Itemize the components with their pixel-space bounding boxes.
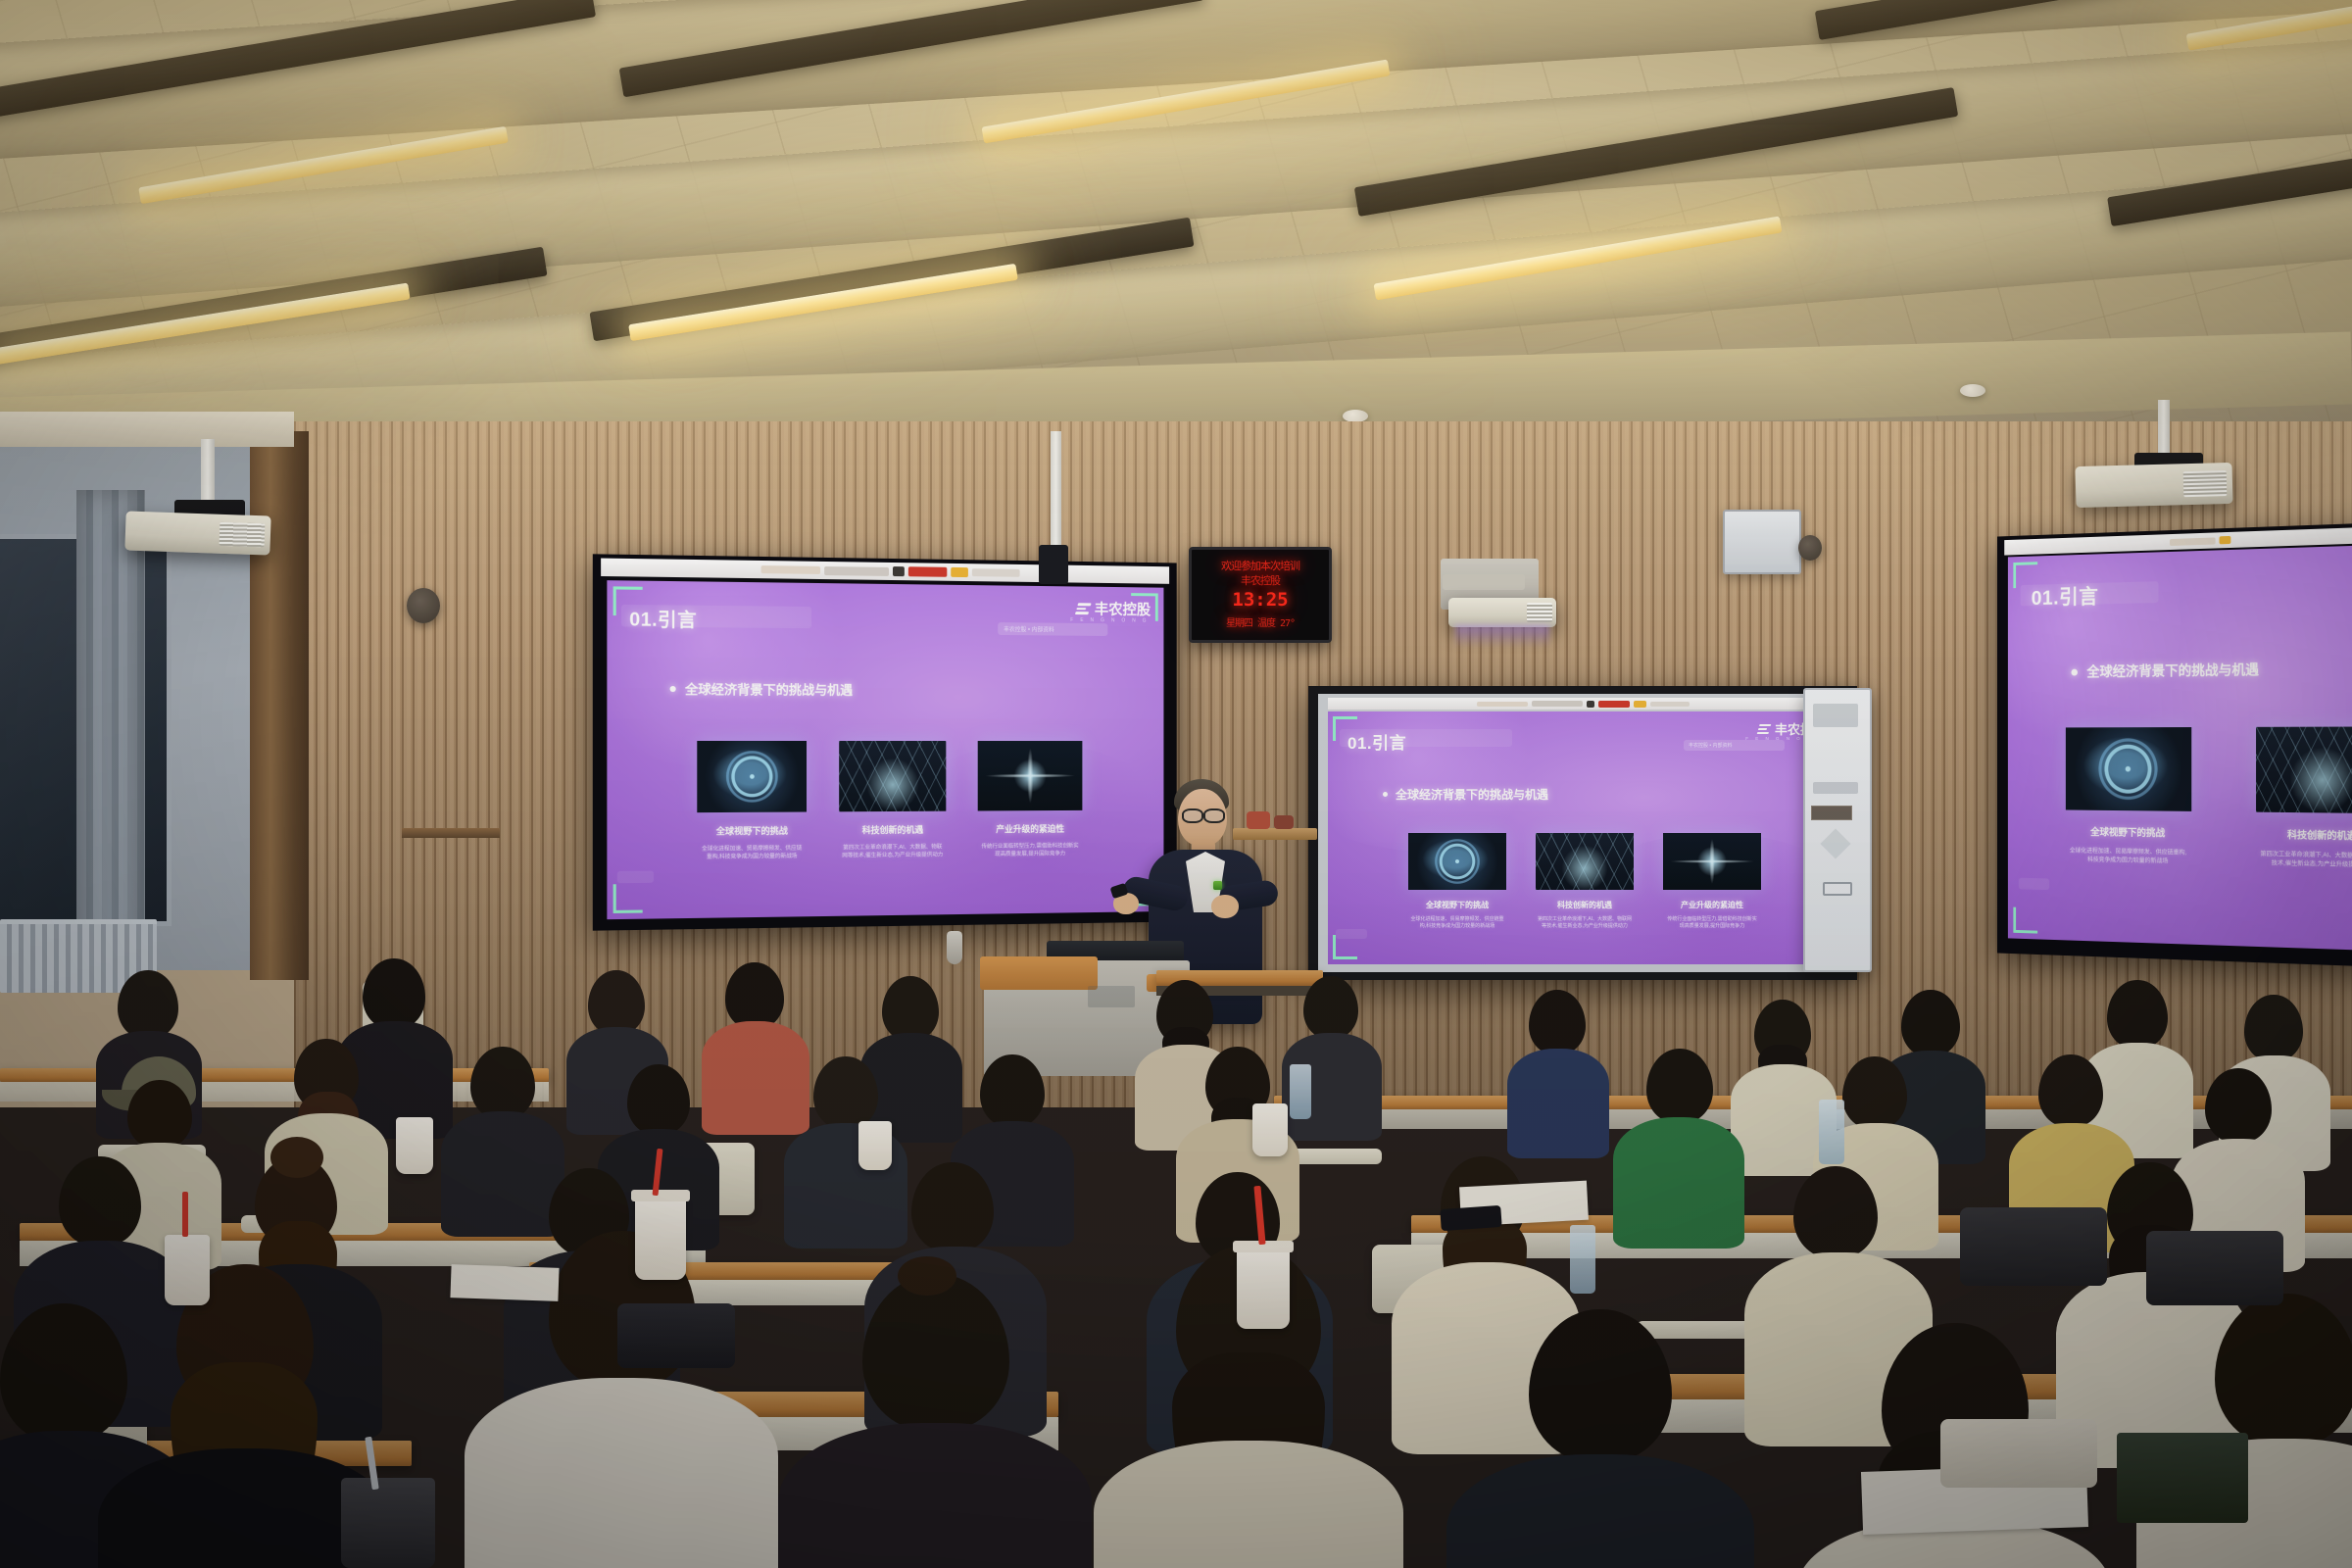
card-body: 全球化进程加速、贸易摩擦频发、供应链重构,科技竞争成为国力较量的新战场 xyxy=(700,845,804,861)
ceiling-projector-left xyxy=(124,511,270,555)
card-title: 产业升级的紧迫性 xyxy=(996,822,1064,835)
slide-card: 科技创新的机遇 第四次工业革命浪潮下,AI、大数据、物联网等技术,催生新业态,为… xyxy=(2248,726,2352,871)
torso xyxy=(1446,1454,1754,1568)
browser-chrome-bar xyxy=(601,559,1169,584)
slide-bullet-row: 全球经济背景下的挑战与机遇 xyxy=(2071,660,2259,681)
slide-card: 产业升级的紧迫性 传统行业面临转型压力,需借助科技创新实现高质量发展,提升国际竞… xyxy=(1657,833,1767,931)
panel-slot[interactable] xyxy=(1823,882,1852,896)
smartphone[interactable] xyxy=(1440,1205,1501,1231)
projector-pole xyxy=(2158,400,2170,461)
brand-logo: 丰农控股 xyxy=(1077,598,1151,618)
slide-bullet-text: 全球经济背景下的挑战与机遇 xyxy=(1396,786,1548,803)
lecture-hall-photo: 01.引言 丰农控股 F E N G N O N G 丰农控股 • 内部资料 全… xyxy=(0,0,2352,1568)
wood-column xyxy=(250,431,309,980)
head xyxy=(2205,1068,2272,1143)
wall-equipment-box[interactable] xyxy=(1723,510,1801,574)
torso xyxy=(1094,1441,1403,1568)
browser-badge-1 xyxy=(1598,701,1630,708)
head xyxy=(363,958,425,1029)
card-title: 全球视野下的挑战 xyxy=(2090,823,2165,839)
led-line-2: 丰农控股 xyxy=(1192,572,1329,588)
card-thumbnail-network xyxy=(839,741,946,811)
head xyxy=(725,962,784,1029)
browser-tab xyxy=(1532,701,1583,707)
browser-tab xyxy=(824,565,889,575)
led-line-1: 欢迎参加本次培训 xyxy=(1192,558,1329,573)
projector-mount xyxy=(1039,545,1068,584)
panel-label xyxy=(1811,806,1852,820)
slide-right: 01.引言 全球经济背景下的挑战与机遇 全球视野下的挑战 全球化进程加速、贸易摩… xyxy=(2008,544,2352,952)
wall-projector-center xyxy=(1448,598,1556,627)
av-control-panel[interactable] xyxy=(1803,688,1872,972)
slide-card: 产业升级的紧迫性 传统行业面临转型压力,需借助科技创新实现高质量发展,提升国际竞… xyxy=(971,741,1089,858)
wall-trim xyxy=(0,412,294,447)
slide-card-group: 全球视野下的挑战 全球化进程加速、贸易摩擦频发、供应链重构,科技竞争成为国力较量… xyxy=(690,741,1089,861)
led-info-display: 欢迎参加本次培训 丰农控股 13:25 星期四 温度 27° xyxy=(1189,547,1332,643)
slide-card: 科技创新的机遇 第四次工业革命浪潮下,AI、大数据、物联网等技术,催生新业态,为… xyxy=(832,741,953,860)
head xyxy=(980,1054,1045,1127)
window-curtain xyxy=(76,490,145,960)
desk-row-far-left xyxy=(0,1068,549,1082)
browser-chrome-bar xyxy=(1328,698,1837,710)
slide-left: 01.引言 丰农控股 F E N G N O N G 丰农控股 • 内部资料 全… xyxy=(607,580,1163,919)
podium-vent xyxy=(1088,986,1135,1007)
projector-vent xyxy=(1527,603,1552,622)
slide-card: 全球视野下的挑战 全球化进程加速、贸易摩擦频发、供应链重构,科技竞争成为国力较量… xyxy=(690,741,813,861)
slide-bullet-row: 全球经济背景下的挑战与机遇 xyxy=(670,679,854,699)
browser-pill xyxy=(2170,537,2216,546)
tissue-pack[interactable] xyxy=(2117,1433,2248,1523)
head xyxy=(911,1162,994,1252)
slide-bullet-row: 全球经济背景下的挑战与机遇 xyxy=(1383,786,1548,803)
torso xyxy=(1613,1117,1744,1249)
card-title: 科技创新的机遇 xyxy=(2287,826,2352,842)
browser-badge-3 xyxy=(1650,702,1690,707)
head xyxy=(1529,990,1586,1054)
handbag[interactable] xyxy=(2146,1231,2283,1305)
card-body: 全球化进程加速、贸易摩擦频发、供应链重构,科技竞争成为国力较量的新战场 xyxy=(2069,848,2188,867)
slide-watermark xyxy=(617,871,654,884)
wall-shelf xyxy=(402,828,500,838)
slide-card: 全球视野下的挑战 全球化进程加速、贸易摩擦频发、供应链重构,科技竞争成为国力较量… xyxy=(1402,833,1512,931)
head xyxy=(627,1064,690,1135)
left-projection-screen[interactable]: 01.引言 丰农控股 F E N G N O N G 丰农控股 • 内部资料 全… xyxy=(593,554,1177,930)
projector-vent xyxy=(2183,470,2228,497)
torso xyxy=(441,1111,564,1237)
browser-badge-2 xyxy=(2220,536,2231,544)
torso xyxy=(465,1378,778,1568)
card-thumbnail-globe xyxy=(1408,833,1506,890)
presenter-right-hand xyxy=(1211,895,1239,918)
logo-mark-icon xyxy=(1075,603,1092,613)
head xyxy=(1793,1166,1878,1258)
cup-lid xyxy=(631,1190,690,1201)
slide-card: 科技创新的机遇 第四次工业革命浪潮下,AI、大数据、物联网等技术,催生新业态,为… xyxy=(1530,833,1640,931)
head xyxy=(1901,990,1960,1056)
bullet-dot-icon xyxy=(670,685,676,691)
slide-watermark xyxy=(2019,878,2049,890)
drink-cup[interactable] xyxy=(858,1121,892,1170)
head xyxy=(813,1056,878,1129)
panel-vent xyxy=(1813,782,1858,794)
slide-card: 全球视野下的挑战 全球化进程加速、贸易摩擦频发、供应链重构,科技竞争成为国力较量… xyxy=(2058,727,2198,867)
browser-icon xyxy=(893,566,905,576)
head xyxy=(59,1156,141,1247)
panel-indicator-icon xyxy=(1820,828,1850,858)
panel-vent xyxy=(1813,704,1858,727)
slide-chip: 丰农控股 • 内部资料 xyxy=(1684,740,1785,751)
card-title: 科技创新的机遇 xyxy=(862,823,924,836)
card-body: 传统行业面临转型压力,需借助科技创新实现高质量发展,提升国际竞争力 xyxy=(1665,916,1759,931)
backpack[interactable] xyxy=(617,1303,735,1368)
slide-center: 01.引言 丰农控股 F E N G N O N G 丰农控股 • 内部资料 全… xyxy=(1328,711,1837,964)
ceiling-speaker xyxy=(1798,535,1822,561)
corner-bl xyxy=(1333,935,1357,959)
hair-clip xyxy=(898,1256,956,1296)
projector-beam xyxy=(1455,625,1549,647)
drink-cup[interactable] xyxy=(1237,1249,1290,1329)
logo-mark-icon xyxy=(1757,724,1772,734)
torso xyxy=(702,1021,809,1135)
slide-title: 01.引言 xyxy=(1347,729,1406,754)
slide-title: 01.引言 xyxy=(2032,581,2099,612)
thermos xyxy=(947,931,962,964)
notebook[interactable] xyxy=(450,1264,559,1301)
card-body: 第四次工业革命浪潮下,AI、大数据、物联网等技术,催生新业态,为产业升级提供动力 xyxy=(2258,851,2352,871)
browser-badge-2 xyxy=(1634,701,1646,708)
card-thumbnail-globe xyxy=(697,741,807,812)
smoke-detector xyxy=(1960,384,1985,397)
hair-bun xyxy=(270,1137,323,1178)
water-bottle[interactable] xyxy=(1819,1100,1844,1164)
head xyxy=(1646,1049,1713,1123)
straw xyxy=(182,1192,188,1237)
podium-top xyxy=(980,956,1098,990)
head xyxy=(2215,1294,2352,1446)
card-body: 全球化进程加速、贸易摩擦频发、供应链重构,科技竞争成为国力较量的新战场 xyxy=(1410,916,1504,931)
projector-pole xyxy=(1051,431,1061,549)
corner-bl xyxy=(2013,907,2037,934)
center-flat-panel[interactable]: 01.引言 丰农控股 F E N G N O N G 丰农控股 • 内部资料 全… xyxy=(1308,686,1857,980)
slide-chip: 丰农控股 • 内部资料 xyxy=(998,622,1107,636)
drink-cup[interactable] xyxy=(635,1198,686,1280)
projector-pole xyxy=(201,439,215,506)
head xyxy=(127,1080,192,1149)
projector-vent xyxy=(220,522,266,548)
slide-bullet-text: 全球经济背景下的挑战与机遇 xyxy=(685,679,853,699)
head xyxy=(118,970,178,1039)
card-thumbnail-globe xyxy=(2065,727,2190,811)
card-body: 传统行业面临转型压力,需借助科技创新实现高质量发展,提升国际竞争力 xyxy=(981,842,1080,858)
projector-bracket xyxy=(1443,574,1525,590)
card-body: 第四次工业革命浪潮下,AI、大数据、物联网等技术,催生新业态,为产业升级提供动力 xyxy=(1537,916,1633,931)
head xyxy=(588,970,645,1035)
head xyxy=(1842,1056,1907,1129)
torso xyxy=(1507,1049,1609,1158)
led-line-4: 星期四 温度 27° xyxy=(1192,614,1329,629)
head xyxy=(2244,995,2303,1061)
slide-bullet-text: 全球经济背景下的挑战与机遇 xyxy=(2086,660,2259,681)
bullet-dot-icon xyxy=(1383,792,1388,797)
head xyxy=(1303,976,1358,1039)
browser-badge-3 xyxy=(972,568,1020,577)
pencil-case[interactable] xyxy=(1940,1419,2097,1488)
card-body: 第四次工业革命浪潮下,AI、大数据、物联网等技术,催生新业态,为产业升级提供动力 xyxy=(841,844,944,860)
card-thumbnail-burst xyxy=(1663,833,1761,890)
card-title: 产业升级的紧迫性 xyxy=(1681,900,1743,910)
water-bottle[interactable] xyxy=(1290,1064,1311,1119)
slide-title: 01.引言 xyxy=(629,605,697,632)
glasses-right-icon xyxy=(1203,808,1225,823)
slide-card-group: 全球视野下的挑战 全球化进程加速、贸易摩擦频发、供应链重构,科技竞争成为国力较量… xyxy=(1402,833,1767,931)
slide-card-group: 全球视野下的挑战 全球化进程加速、贸易摩擦频发、供应链重构,科技竞争成为国力较量… xyxy=(2058,726,2352,871)
head xyxy=(2038,1054,2103,1127)
water-bottle[interactable] xyxy=(1570,1225,1595,1294)
browser-icon xyxy=(1587,701,1594,708)
browser-pill xyxy=(1477,702,1528,707)
browser-badge-2 xyxy=(951,567,968,577)
ceiling-projector-right xyxy=(2075,463,2232,508)
browser-badge-1 xyxy=(908,566,947,577)
drink-cup[interactable] xyxy=(165,1235,210,1305)
travel-tumbler[interactable] xyxy=(341,1478,435,1568)
lapel-pin xyxy=(1213,881,1222,890)
head xyxy=(470,1047,535,1119)
drink-cup[interactable] xyxy=(396,1117,433,1174)
corner-bl xyxy=(613,884,643,913)
glasses-left-icon xyxy=(1182,808,1203,823)
card-title: 科技创新的机遇 xyxy=(1557,900,1612,910)
card-title: 全球视野下的挑战 xyxy=(716,824,788,838)
brand-name: 丰农控股 xyxy=(1095,599,1151,619)
right-projection-screen[interactable]: 01.引言 全球经济背景下的挑战与机遇 全球视野下的挑战 全球化进程加速、贸易摩… xyxy=(1997,521,2352,968)
browser-pill xyxy=(761,565,821,574)
card-thumbnail-network xyxy=(2256,726,2352,813)
bullet-dot-icon xyxy=(2071,668,2078,675)
drink-cup[interactable] xyxy=(1252,1103,1288,1156)
torso xyxy=(778,1423,1092,1568)
card-title: 全球视野下的挑战 xyxy=(1426,900,1489,910)
head xyxy=(882,976,939,1041)
led-time: 13:25 xyxy=(1192,589,1329,611)
handbag[interactable] xyxy=(1960,1207,2107,1286)
head xyxy=(2107,980,2168,1049)
card-thumbnail-burst xyxy=(978,741,1083,810)
desk-front xyxy=(0,1082,549,1102)
card-thumbnail-network xyxy=(1536,833,1634,890)
wall-speaker xyxy=(407,588,440,623)
head xyxy=(0,1303,127,1443)
